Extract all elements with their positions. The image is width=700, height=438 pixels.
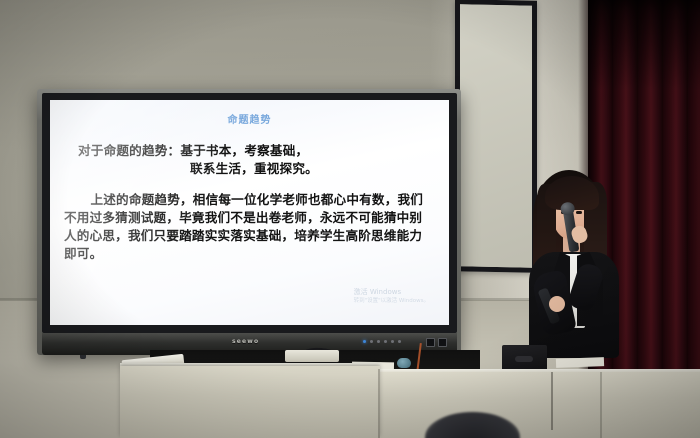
computer-mouse[interactable]	[397, 358, 411, 368]
presentation-slide: 命题趋势 对于命题的趋势：基于书本，考察基础， 联系生活，重视探究。 上述的命题…	[50, 100, 449, 325]
paper-sheet[interactable]	[556, 357, 604, 368]
watermark-line-2: 转到"设置"以激活 Windows。	[354, 298, 429, 305]
usb-port-icon-1[interactable]	[426, 338, 435, 347]
desk-right-panel	[378, 372, 700, 438]
status-led-icon-3	[384, 340, 387, 343]
status-led-icon-2	[377, 340, 380, 343]
display-screen[interactable]: 命题趋势 对于命题的趋势：基于书本，考察基础， 联系生活，重视探究。 上述的命题…	[50, 100, 449, 325]
desk-left-panel	[120, 366, 380, 438]
curtain-top-shadow	[588, 0, 700, 90]
desk-seam-1	[378, 369, 380, 438]
slide-paragraph-1: 对于命题的趋势：基于书本，考察基础， 联系生活，重视探究。	[78, 142, 435, 179]
presenter-eye-right	[576, 211, 582, 214]
equipment-box-slot	[515, 356, 533, 362]
laptop-edge[interactable]	[285, 350, 339, 362]
status-led-icon-4	[391, 340, 394, 343]
lecture-hall-scene: 命题趋势 对于命题的趋势：基于书本，考察基础， 联系生活，重视探究。 上述的命题…	[0, 0, 700, 438]
slide-paragraph-1-line-2: 联系生活，重视探究。	[190, 160, 435, 178]
slide-title: 命题趋势	[64, 111, 435, 126]
watermark-line-1: 激活 Windows	[354, 288, 429, 297]
display-status-leds	[363, 340, 401, 343]
slide-paragraph-2: 上述的命题趋势，相信每一位化学老师也都心中有数，我们不用过多猜测试题，毕竟我们不…	[64, 191, 435, 264]
slide-body: 对于命题的趋势：基于书本，考察基础， 联系生活，重视探究。 上述的命题趋势，相信…	[64, 142, 435, 264]
windows-activation-watermark: 激活 Windows 转到"设置"以激活 Windows。	[354, 288, 429, 305]
status-led-icon-1	[370, 340, 373, 343]
desk-seam-2	[600, 372, 602, 438]
presenter-hand-lower	[549, 296, 565, 312]
presenter	[515, 168, 635, 358]
slide-paragraph-1-line-1: 对于命题的趋势：基于书本，考察基础，	[78, 143, 308, 158]
power-led-icon	[363, 340, 366, 343]
display-ports[interactable]	[426, 338, 447, 347]
usb-port-icon-2[interactable]	[438, 338, 447, 347]
stand-pole	[551, 372, 553, 430]
status-led-icon-5	[398, 340, 401, 343]
display-brand-logo: seewo	[232, 338, 259, 345]
interactive-flat-panel-display[interactable]: 命题趋势 对于命题的趋势：基于书本，考察基础， 联系生活，重视探究。 上述的命题…	[37, 89, 461, 355]
